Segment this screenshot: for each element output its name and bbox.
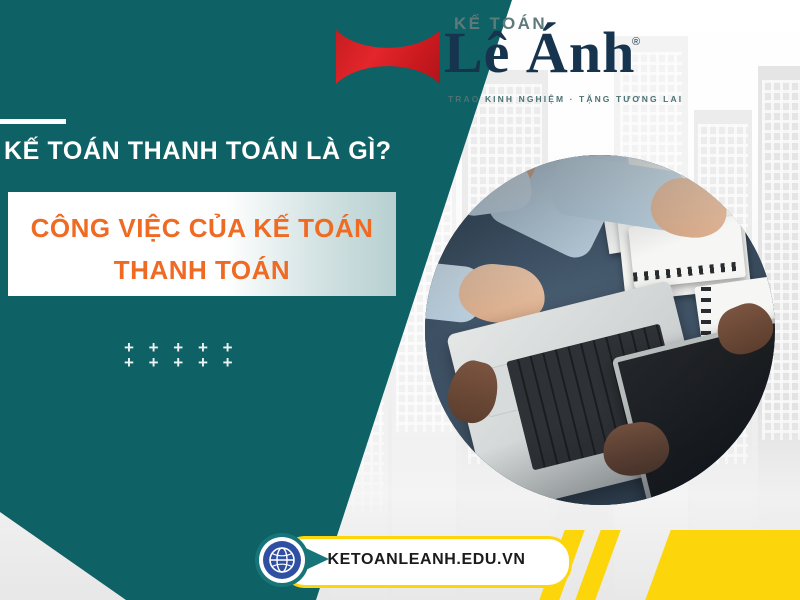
subtitle-box: CÔNG VIỆC CỦA KẾ TOÁN THANH TOÁN xyxy=(8,192,396,296)
subtitle-line-1: CÔNG VIỆC CỦA KẾ TOÁN xyxy=(8,213,396,244)
meeting-photo xyxy=(425,155,775,505)
logo-tagline: TRAO KINH NGHIỆM · TẶNG TƯƠNG LAI xyxy=(448,94,683,104)
logo-name: Lê Ánh xyxy=(444,24,635,82)
url-pill[interactable]: KETOANLEANH.EDU.VN xyxy=(281,536,572,588)
plus-decoration: + + + + + + + + + + xyxy=(124,340,238,370)
page-title: KẾ TOÁN THANH TOÁN LÀ GÌ? xyxy=(4,137,392,166)
globe-icon[interactable] xyxy=(263,541,301,579)
banner-canvas: KẾ TOÁN Lê Ánh ® TRAO KINH NGHIỆM · TẶNG… xyxy=(0,0,800,600)
brand-logo[interactable]: KẾ TOÁN Lê Ánh ® TRAO KINH NGHIỆM · TẶNG… xyxy=(336,8,648,108)
footer-yellow-block xyxy=(645,530,800,600)
photo-vignette xyxy=(425,155,775,505)
plus-row-2: + + + + + xyxy=(124,353,238,372)
subtitle-line-2: THANH TOÁN xyxy=(8,255,396,286)
le-anh-bowtie-mark-icon xyxy=(336,12,440,102)
registered-mark-icon: ® xyxy=(632,36,640,48)
title-rule xyxy=(0,119,66,124)
